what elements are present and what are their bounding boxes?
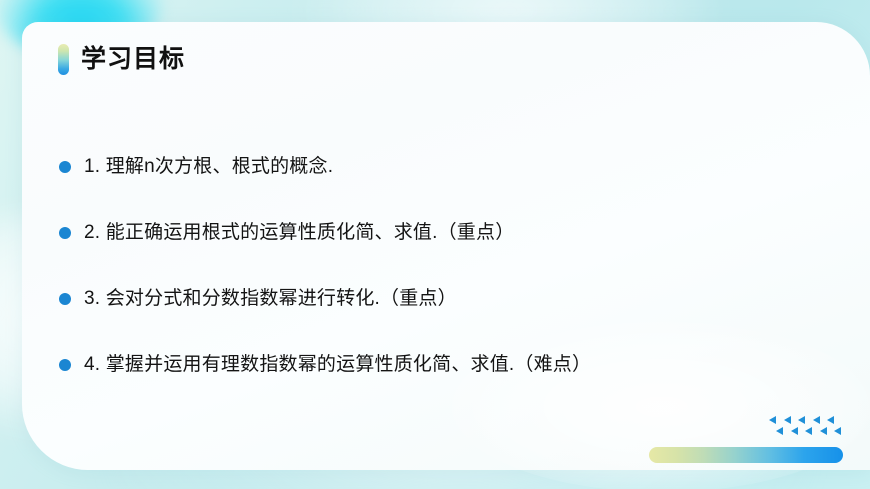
objective-text: 2. 能正确运用根式的运算性质化简、求值.（重点） bbox=[84, 220, 514, 246]
title-marker-icon bbox=[58, 44, 69, 75]
triangle-left-icon bbox=[820, 427, 827, 435]
arrow-row-top bbox=[769, 416, 834, 424]
list-item: 1. 理解n次方根、根式的概念. bbox=[59, 134, 819, 200]
list-item: 4. 掌握并运用有理数指数幂的运算性质化简、求值.（难点） bbox=[59, 332, 819, 398]
triangle-left-icon bbox=[784, 416, 791, 424]
dot-bullet-icon bbox=[59, 161, 71, 173]
list-item: 2. 能正确运用根式的运算性质化简、求值.（重点） bbox=[59, 200, 819, 266]
page-title: 学习目标 bbox=[81, 47, 185, 72]
triangle-left-icon bbox=[813, 416, 820, 424]
list-item: 3. 会对分式和分数指数幂进行转化.（重点） bbox=[59, 266, 819, 332]
triangle-left-icon bbox=[834, 427, 841, 435]
dot-bullet-icon bbox=[59, 227, 71, 239]
triangle-left-icon bbox=[798, 416, 805, 424]
objective-text: 4. 掌握并运用有理数指数幂的运算性质化简、求值.（难点） bbox=[84, 352, 591, 378]
gradient-accent-bar bbox=[649, 447, 843, 463]
triangle-left-icon bbox=[805, 427, 812, 435]
dot-bullet-icon bbox=[59, 359, 71, 371]
content-card: 学习目标 1. 理解n次方根、根式的概念. 2. 能正确运用根式的运算性质化简、… bbox=[22, 22, 870, 470]
decorative-arrow-cluster bbox=[769, 416, 839, 438]
slide-title-row: 学习目标 bbox=[58, 44, 185, 75]
arrow-row-bottom bbox=[776, 427, 841, 435]
triangle-left-icon bbox=[827, 416, 834, 424]
triangle-left-icon bbox=[776, 427, 783, 435]
triangle-left-icon bbox=[791, 427, 798, 435]
objectives-list: 1. 理解n次方根、根式的概念. 2. 能正确运用根式的运算性质化简、求值.（重… bbox=[59, 134, 819, 398]
triangle-left-icon bbox=[769, 416, 776, 424]
slide-root: 学习目标 1. 理解n次方根、根式的概念. 2. 能正确运用根式的运算性质化简、… bbox=[0, 0, 870, 489]
objective-text: 1. 理解n次方根、根式的概念. bbox=[84, 154, 333, 180]
objective-text: 3. 会对分式和分数指数幂进行转化.（重点） bbox=[84, 286, 457, 312]
dot-bullet-icon bbox=[59, 293, 71, 305]
